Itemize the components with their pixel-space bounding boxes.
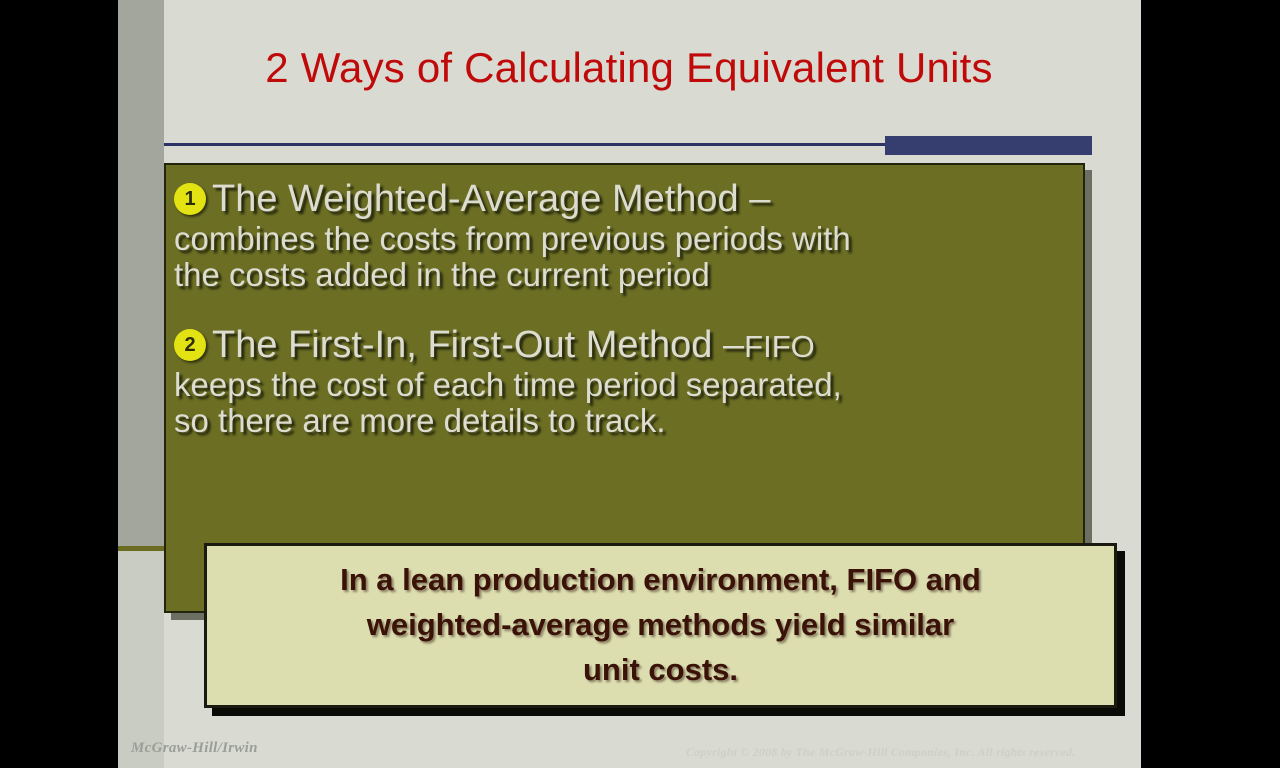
callout-box: In a lean production environment, FIFO a… [204, 543, 1117, 708]
footer-brand: McGraw-Hill/Irwin [131, 740, 258, 757]
callout-line-3: unit costs. [583, 648, 738, 693]
left-decorative-band [118, 0, 164, 546]
page-title: 2 Ways of Calculating Equivalent Units [164, 44, 1094, 92]
slide-root: 2 Ways of Calculating Equivalent Units 1… [0, 0, 1280, 768]
footer-copyright: Copyright © 2008 by The McGraw-Hill Comp… [686, 745, 1075, 760]
number-badge-1-icon: 1 [174, 183, 206, 215]
callout-line-2: weighted-average methods yield similar [367, 603, 954, 648]
number-badge-2-icon: 2 [174, 329, 206, 361]
bullet-1-lead-line: 1The Weighted-Average Method – [174, 179, 1067, 221]
bullet-2-body-line-2: so there are more details to track. [174, 403, 1067, 439]
bullet-2-tag-text: FIFO [744, 329, 815, 364]
bullet-2-lead-text: The First-In, First-Out Method – [212, 324, 744, 366]
bullet-1-body-line-2: the costs added in the current period [174, 257, 1067, 293]
bullet-1-lead-text: The Weighted-Average Method – [212, 178, 770, 220]
bullet-2-lead-line: 2The First-In, First-Out Method –FIFO [174, 325, 1067, 367]
bullet-item-2: 2The First-In, First-Out Method –FIFO ke… [166, 325, 1083, 439]
bullet-2-body-line-1: keeps the cost of each time period separ… [174, 367, 1067, 403]
title-divider-block [885, 136, 1092, 155]
bullet-1-body-line-1: combines the costs from previous periods… [174, 221, 1067, 257]
bullet-item-1: 1The Weighted-Average Method – combines … [166, 179, 1083, 293]
left-decorative-band-lower [118, 551, 164, 768]
callout-line-1: In a lean production environment, FIFO a… [340, 558, 981, 603]
